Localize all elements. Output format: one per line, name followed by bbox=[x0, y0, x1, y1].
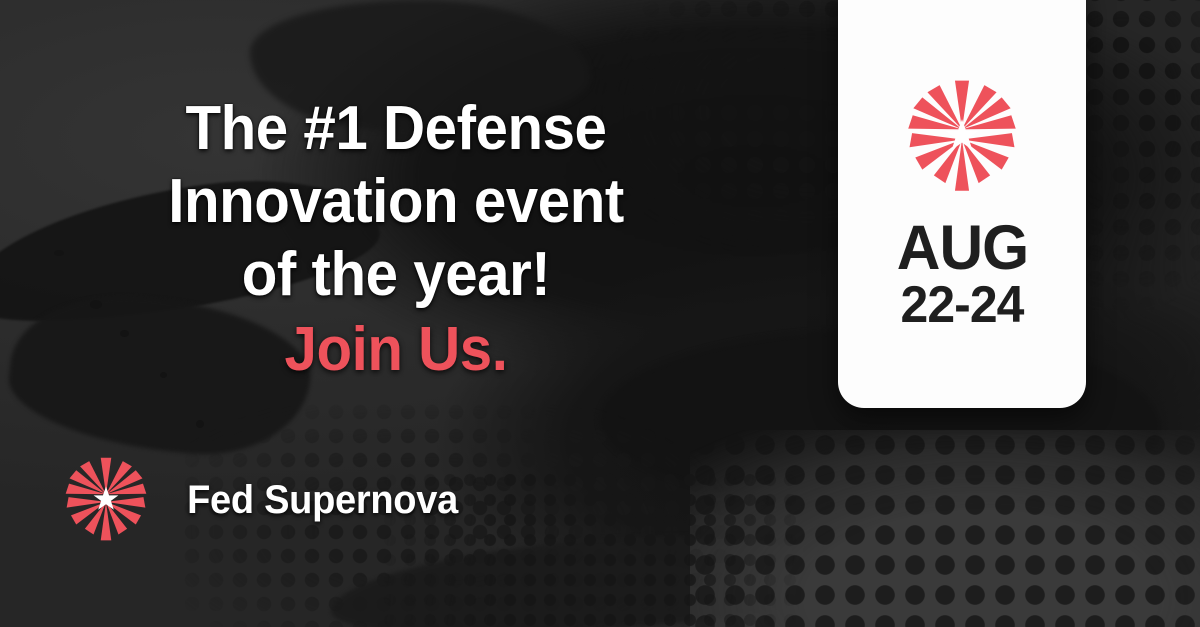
call-to-action-text: Join Us. bbox=[82, 313, 710, 386]
grunge-speck bbox=[196, 420, 204, 428]
event-date-card: AUG 22-24 bbox=[838, 0, 1086, 408]
event-promo-banner: The #1 Defense Innovation event of the y… bbox=[0, 0, 1200, 627]
headline-line-2: Innovation event bbox=[82, 165, 710, 238]
headline-line-1: The #1 Defense bbox=[82, 92, 710, 165]
headline-block: The #1 Defense Innovation event of the y… bbox=[62, 92, 730, 387]
brand-name: Fed Supernova bbox=[187, 478, 458, 523]
headline-line-3: of the year! bbox=[82, 238, 710, 311]
event-month: AUG bbox=[896, 219, 1028, 278]
supernova-burst-logo-icon bbox=[58, 452, 154, 548]
event-days: 22-24 bbox=[901, 278, 1024, 333]
brand-lockup: Fed Supernova bbox=[58, 452, 465, 548]
supernova-burst-logo-icon bbox=[898, 73, 1026, 201]
